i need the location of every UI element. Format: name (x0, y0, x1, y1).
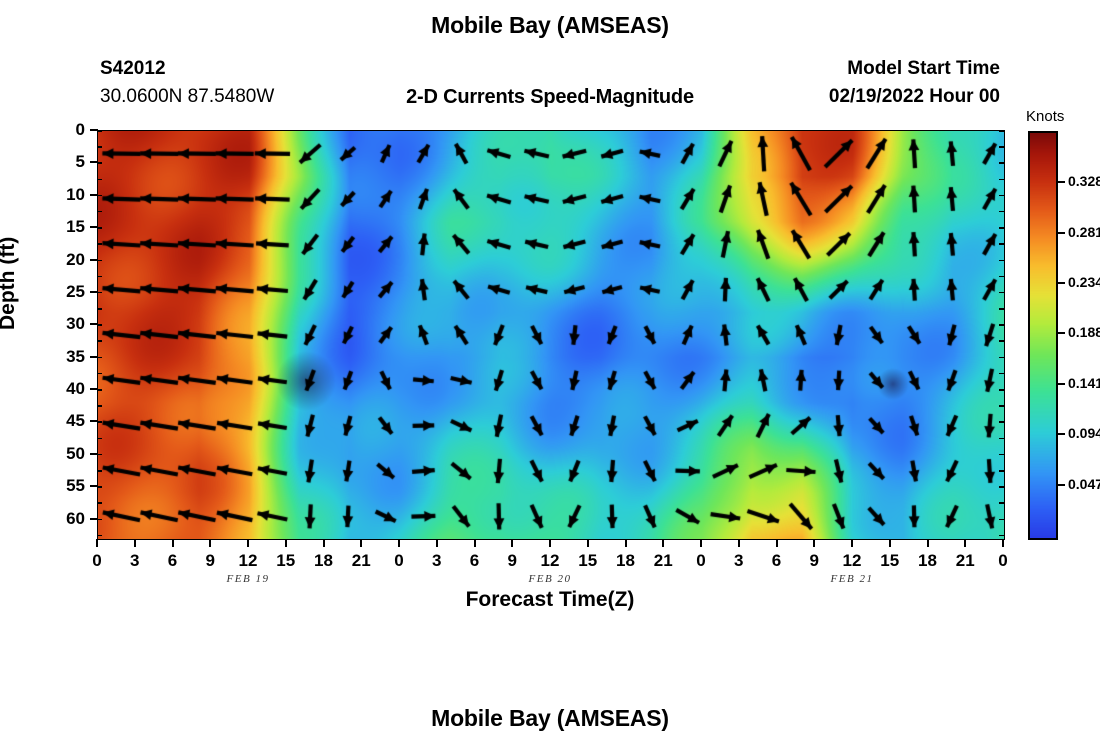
x-axis-tick-label: 0 (988, 551, 1018, 571)
x-axis-tick-label: 0 (686, 551, 716, 571)
y-axis-tick-label: 35 (45, 347, 85, 367)
x-axis-tick-label: 0 (82, 551, 112, 571)
x-axis-tick (587, 539, 589, 547)
x-axis-tick (96, 539, 98, 547)
day-label: FEB 20 (505, 573, 595, 585)
y-axis-minor-tick (97, 502, 102, 504)
y-axis-minor-tick (97, 243, 102, 245)
x-axis-tick-label: 15 (875, 551, 905, 571)
y-axis-minor-tick (97, 195, 102, 197)
y-axis-tick-label: 40 (45, 379, 85, 399)
x-axis-tick-label: 18 (309, 551, 339, 571)
x-axis-tick (247, 539, 249, 547)
colorbar-tick-label: 0.234 (1068, 274, 1100, 290)
x-axis-tick-label: 15 (573, 551, 603, 571)
x-axis-tick (889, 539, 891, 547)
y-axis-minor-tick (97, 486, 102, 488)
y-axis-minor-tick (999, 438, 1004, 440)
x-axis-tick-label: 6 (158, 551, 188, 571)
currents-heatmap-plot (97, 130, 1005, 540)
colorbar-title: Knots (1026, 108, 1064, 125)
x-axis-tick-label: 3 (120, 551, 150, 571)
y-axis-tick-label: 10 (45, 185, 85, 205)
y-axis-minor-tick (97, 276, 102, 278)
y-axis-minor-tick (97, 324, 102, 326)
x-axis-tick-label: 3 (724, 551, 754, 571)
colorbar-canvas (1030, 133, 1056, 538)
page-title: Mobile Bay (AMSEAS) (0, 12, 1100, 39)
colorbar-tick (1056, 484, 1065, 486)
x-axis-tick (549, 539, 551, 547)
x-axis-tick (625, 539, 627, 547)
x-axis-tick-label: 15 (271, 551, 301, 571)
y-axis-minor-tick (97, 308, 102, 310)
x-axis-tick (398, 539, 400, 547)
y-axis-minor-tick (999, 486, 1004, 488)
y-axis-minor-tick (999, 227, 1004, 229)
x-axis-tick-label: 18 (913, 551, 943, 571)
x-axis-tick-label: 12 (837, 551, 867, 571)
x-axis-tick-label: 21 (346, 551, 376, 571)
y-axis-minor-tick (97, 130, 102, 132)
y-axis-minor-tick (97, 519, 102, 521)
x-axis-tick-label: 21 (950, 551, 980, 571)
colorbar-tick-label: 0.047 (1068, 476, 1100, 492)
colorbar-tick (1056, 232, 1065, 234)
x-axis-tick (700, 539, 702, 547)
colorbar-tick-label: 0.328 (1068, 173, 1100, 189)
y-axis-tick-label: 60 (45, 509, 85, 529)
x-axis-tick (134, 539, 136, 547)
x-axis-tick-label: 6 (762, 551, 792, 571)
y-axis-minor-tick (999, 276, 1004, 278)
colorbar (1028, 131, 1058, 540)
x-axis-tick-label: 9 (497, 551, 527, 571)
y-axis-minor-tick (999, 162, 1004, 164)
colorbar-tick-label: 0.141 (1068, 375, 1100, 391)
x-axis-tick (436, 539, 438, 547)
colorbar-tick (1056, 332, 1065, 334)
y-axis-minor-tick (999, 130, 1004, 132)
model-start-time-value: 02/19/2022 Hour 00 (829, 86, 1000, 108)
x-axis-tick-label: 6 (460, 551, 490, 571)
y-axis-minor-tick (999, 146, 1004, 148)
y-axis-minor-tick (97, 227, 102, 229)
y-axis-minor-tick (97, 179, 102, 181)
y-axis-minor-tick (97, 357, 102, 359)
y-axis-minor-tick (999, 421, 1004, 423)
station-id: S42012 (100, 58, 166, 80)
x-axis-tick-label: 9 (195, 551, 225, 571)
y-axis-minor-tick (97, 292, 102, 294)
y-axis-minor-tick (97, 340, 102, 342)
y-axis-minor-tick (999, 519, 1004, 521)
colorbar-tick (1056, 282, 1065, 284)
y-axis-minor-tick (999, 211, 1004, 213)
y-axis-minor-tick (97, 535, 102, 537)
x-axis-tick (209, 539, 211, 547)
y-axis-tick-label: 5 (45, 152, 85, 172)
colorbar-tick (1056, 181, 1065, 183)
y-axis-minor-tick (97, 389, 102, 391)
y-axis-minor-tick (999, 357, 1004, 359)
x-axis-tick-label: 12 (535, 551, 565, 571)
y-axis-minor-tick (999, 405, 1004, 407)
model-start-time-label: Model Start Time (847, 58, 1000, 80)
x-axis-tick (738, 539, 740, 547)
x-axis-tick-label: 21 (648, 551, 678, 571)
x-axis-tick (964, 539, 966, 547)
colorbar-tick-label: 0.188 (1068, 324, 1100, 340)
x-axis-tick-label: 18 (611, 551, 641, 571)
colorbar-tick-label: 0.281 (1068, 224, 1100, 240)
y-axis-minor-tick (97, 162, 102, 164)
y-axis-tick-label: 55 (45, 476, 85, 496)
y-axis-minor-tick (999, 292, 1004, 294)
x-axis-tick (360, 539, 362, 547)
x-axis-tick (172, 539, 174, 547)
x-axis-tick (776, 539, 778, 547)
y-axis-minor-tick (999, 243, 1004, 245)
x-axis-tick-label: 12 (233, 551, 263, 571)
x-axis-tick (662, 539, 664, 547)
x-axis-tick (851, 539, 853, 547)
y-axis-minor-tick (999, 308, 1004, 310)
y-axis-minor-tick (999, 324, 1004, 326)
x-axis-tick (285, 539, 287, 547)
y-axis-minor-tick (97, 438, 102, 440)
x-axis-tick-label: 3 (422, 551, 452, 571)
y-axis-minor-tick (999, 502, 1004, 504)
y-axis-minor-tick (97, 146, 102, 148)
colorbar-tick (1056, 383, 1065, 385)
colorbar-tick-label: 0.094 (1068, 425, 1100, 441)
bottom-title: Mobile Bay (AMSEAS) (0, 705, 1100, 732)
y-axis-tick-label: 25 (45, 282, 85, 302)
y-axis-label: Depth (ft) (0, 237, 20, 330)
y-axis-minor-tick (999, 389, 1004, 391)
day-label: FEB 19 (203, 573, 293, 585)
colorbar-tick (1056, 433, 1065, 435)
y-axis-minor-tick (97, 373, 102, 375)
y-axis-minor-tick (97, 405, 102, 407)
y-axis-tick-label: 30 (45, 314, 85, 334)
y-axis-tick-label: 45 (45, 411, 85, 431)
y-axis-minor-tick (999, 535, 1004, 537)
x-axis-tick (474, 539, 476, 547)
x-axis-tick (813, 539, 815, 547)
y-axis-minor-tick (97, 454, 102, 456)
x-axis-tick (511, 539, 513, 547)
x-axis-tick (927, 539, 929, 547)
y-axis-minor-tick (999, 260, 1004, 262)
x-axis-label: Forecast Time(Z) (0, 588, 1100, 612)
heatmap-canvas (98, 131, 1004, 539)
x-axis-tick (323, 539, 325, 547)
y-axis-tick-label: 0 (45, 120, 85, 140)
x-axis-tick-label: 9 (799, 551, 829, 571)
y-axis-minor-tick (999, 195, 1004, 197)
y-axis-minor-tick (999, 340, 1004, 342)
y-axis-minor-tick (999, 373, 1004, 375)
day-label: FEB 21 (807, 573, 897, 585)
x-axis-tick-label: 0 (384, 551, 414, 571)
y-axis-minor-tick (999, 470, 1004, 472)
y-axis-minor-tick (999, 454, 1004, 456)
x-axis-tick (1002, 539, 1004, 547)
y-axis-minor-tick (999, 179, 1004, 181)
y-axis-minor-tick (97, 260, 102, 262)
y-axis-minor-tick (97, 421, 102, 423)
y-axis-minor-tick (97, 211, 102, 213)
y-axis-minor-tick (97, 470, 102, 472)
y-axis-tick-label: 50 (45, 444, 85, 464)
y-axis-tick-label: 15 (45, 217, 85, 237)
y-axis-tick-label: 20 (45, 250, 85, 270)
